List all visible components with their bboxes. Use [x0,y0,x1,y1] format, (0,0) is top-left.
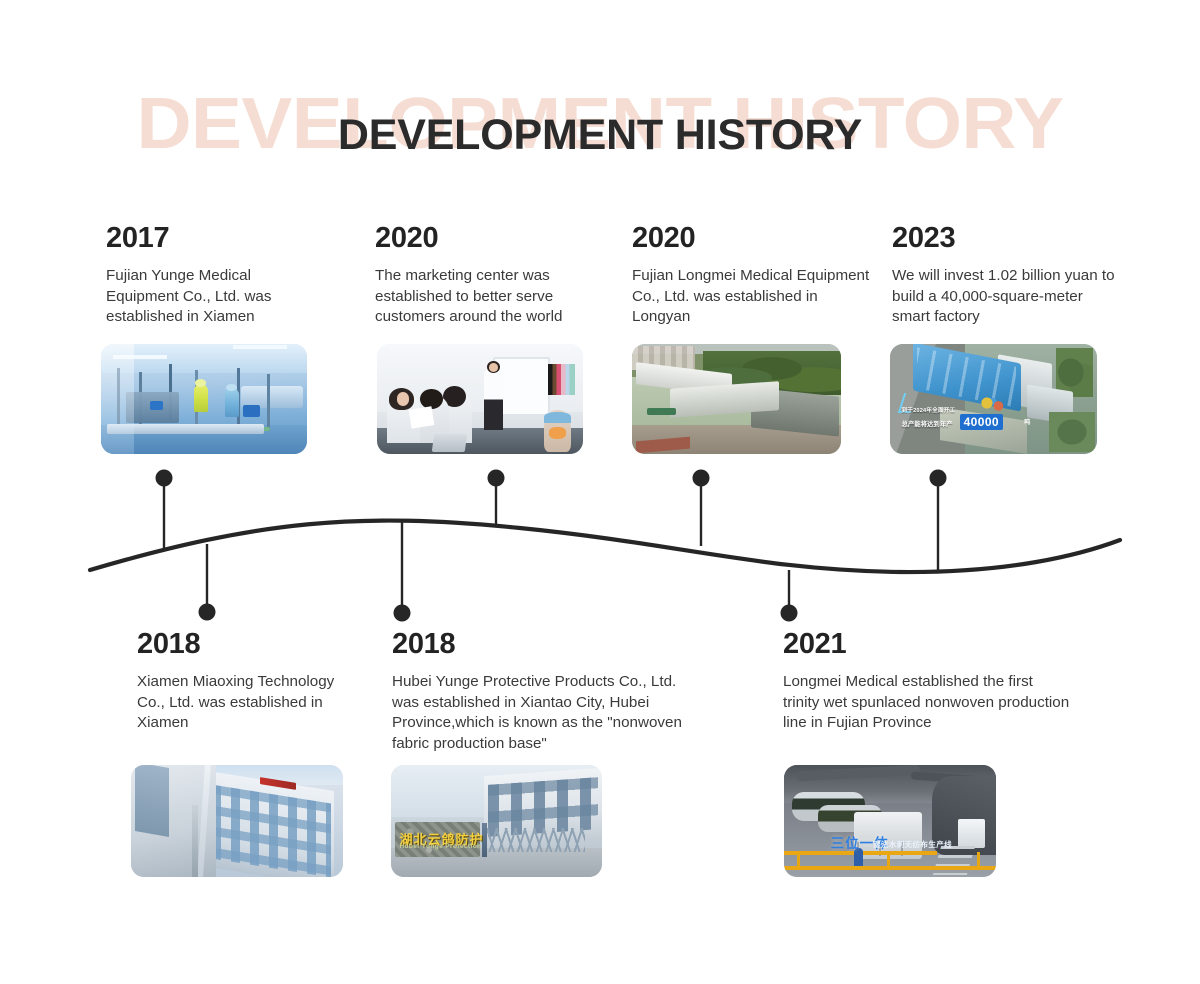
overlay-line-1: 到于2024年全面开工 [901,406,955,414]
milestone-description: Fujian Yunge Medical Equipment Co., Ltd.… [106,266,316,328]
milestone-image-2020-marketing [377,344,583,454]
milestone-year: 2020 [375,224,597,253]
milestone-year: 2018 [392,630,684,659]
infographic-canvas: DEVELOPMENT HISTORY DEVELOPMENT HISTORY … [0,0,1200,984]
overlay-capacity-number: 40000 [960,414,1003,430]
milestone-description: We will invest 1.02 billion yuan to buil… [892,266,1124,328]
milestone-bottom-1: 2018 Xiamen Miaoxing Technology Co., Ltd… [137,630,345,734]
milestone-description: Fujian Longmei Medical Equipment Co., Lt… [632,266,870,328]
milestone-image-2020-longmei [632,344,841,454]
milestone-year: 2023 [892,224,1124,253]
milestone-top-2: 2020 The marketing center was establishe… [375,224,597,328]
milestone-year: 2018 [137,630,345,659]
milestone-bottom-3: 2021 Longmei Medical established the fir… [783,630,1071,734]
milestone-year: 2017 [106,224,316,253]
milestone-image-2021-production-line: 三位一体 湿法水刺无纺布生产线 [784,765,996,877]
milestone-year: 2020 [632,224,870,253]
milestone-year: 2021 [783,630,1071,659]
milestone-image-2018-miaoxing [131,765,343,877]
gate-sign-english: Hubei Yunge Protection [399,843,481,850]
milestone-description: Longmei Medical established the first tr… [783,672,1071,734]
milestone-image-2023-smart-factory: 到于2024年全面开工 总产能将达到年产 40000 吨 [890,344,1097,454]
page-title-block: DEVELOPMENT HISTORY DEVELOPMENT HISTORY [0,88,1200,188]
milestone-description: The marketing center was established to … [375,266,597,328]
milestone-top-4: 2023 We will invest 1.02 billion yuan to… [892,224,1124,328]
milestone-description: Xiamen Miaoxing Technology Co., Ltd. was… [137,672,345,734]
milestone-image-2017 [101,344,307,454]
page-title: DEVELOPMENT HISTORY [0,114,1200,157]
milestone-description: Hubei Yunge Protective Products Co., Ltd… [392,672,684,754]
overlay-capacity-unit: 吨 [1024,417,1030,426]
milestone-image-2018-hubei: 湖北云鸽防护 Hubei Yunge Protection [391,765,602,877]
production-line-overlay-subtitle: 湿法水刺无纺布生产线 [873,839,952,850]
milestone-bottom-2: 2018 Hubei Yunge Protective Products Co.… [392,630,684,754]
smart-factory-overlay: 到于2024年全面开工 总产能将达到年产 40000 吨 [898,405,1059,436]
milestone-top-1: 2017 Fujian Yunge Medical Equipment Co.,… [106,224,316,328]
overlay-line-2: 总产能将达到年产 [901,419,952,428]
milestone-top-3: 2020 Fujian Longmei Medical Equipment Co… [632,224,870,328]
